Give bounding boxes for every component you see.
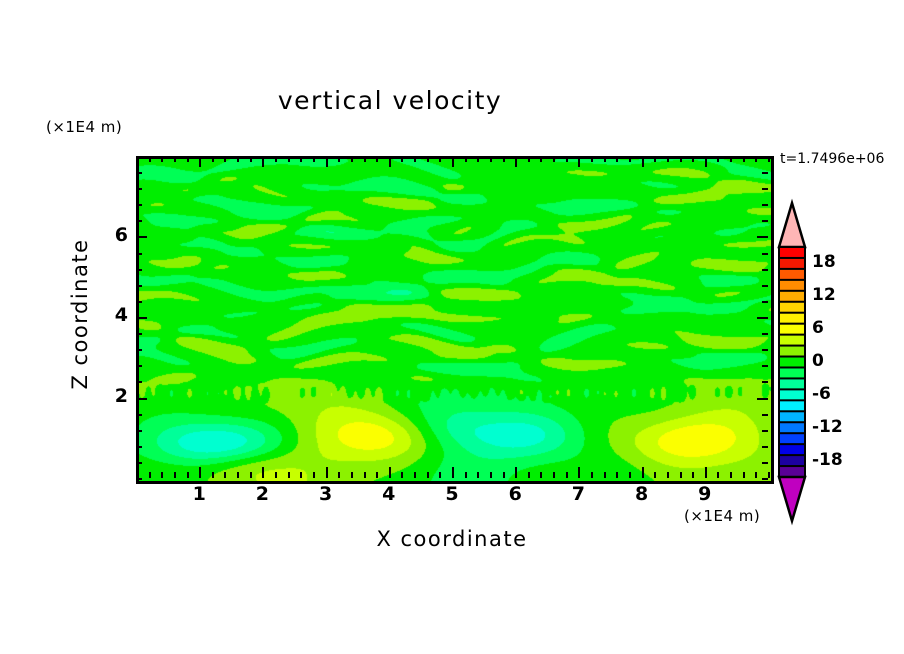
x-axis-minor-tick-top: [553, 156, 555, 162]
x-axis-tick-label: 5: [437, 483, 467, 505]
x-axis-minor-tick-top: [667, 156, 669, 162]
x-axis-minor-tick-top: [743, 156, 745, 162]
x-axis-minor-tick-top: [604, 156, 606, 162]
x-axis-minor-tick-top: [439, 156, 441, 162]
x-axis-minor-tick-top: [528, 156, 530, 162]
colorbar-band: [779, 455, 805, 466]
y-axis-minor-tick-right: [762, 446, 768, 448]
colorbar-band: [779, 378, 805, 389]
y-axis-minor-tick: [136, 414, 142, 416]
x-axis-minor-tick: [490, 472, 492, 478]
x-axis-minor-tick-top: [490, 156, 492, 162]
x-axis-minor-tick-top: [288, 156, 290, 162]
contour-plot-area: [136, 156, 774, 484]
x-axis-major-tick-top: [705, 156, 707, 167]
y-axis-major-tick: [136, 317, 147, 319]
x-axis-major-tick: [262, 467, 264, 478]
y-axis-tick-label: 6: [94, 224, 128, 246]
x-axis-minor-tick: [300, 472, 302, 478]
x-axis-minor-tick-top: [591, 156, 593, 162]
y-axis-major-tick-right: [757, 317, 768, 319]
x-axis-minor-tick-top: [364, 156, 366, 162]
y-axis-minor-tick-right: [762, 430, 768, 432]
x-axis-minor-tick: [338, 472, 340, 478]
y-axis-minor-tick-right: [762, 172, 768, 174]
x-axis-minor-tick: [717, 472, 719, 478]
x-axis-major-tick-top: [389, 156, 391, 167]
colorbar-band: [779, 422, 805, 433]
x-axis-minor-tick: [313, 472, 315, 478]
x-axis-minor-tick: [680, 472, 682, 478]
x-axis-minor-tick: [427, 472, 429, 478]
x-axis-major-tick-top: [262, 156, 264, 167]
colorbar-tick-label: 0: [812, 351, 824, 371]
colorbar-band: [779, 346, 805, 357]
x-axis-minor-tick: [604, 472, 606, 478]
y-axis-minor-tick-right: [762, 285, 768, 287]
x-axis-minor-tick-top: [680, 156, 682, 162]
x-axis-minor-tick: [439, 472, 441, 478]
colorbar-band: [779, 444, 805, 455]
x-axis-tick-label: 7: [563, 483, 593, 505]
x-axis-minor-tick-top: [692, 156, 694, 162]
x-axis-minor-tick: [692, 472, 694, 478]
y-axis-major-tick: [136, 236, 147, 238]
x-axis-major-tick: [578, 467, 580, 478]
y-axis-minor-tick-right: [762, 156, 768, 158]
y-axis-minor-tick-right: [762, 462, 768, 464]
y-axis-minor-tick-right: [762, 253, 768, 255]
x-axis-minor-tick-top: [768, 156, 770, 162]
x-axis-minor-tick: [161, 472, 163, 478]
x-axis-minor-tick: [566, 472, 568, 478]
x-axis-major-tick-top: [326, 156, 328, 167]
timestamp-label: t=1.7496e+06: [780, 151, 884, 167]
x-axis-minor-tick: [275, 472, 277, 478]
x-axis-minor-tick-top: [250, 156, 252, 162]
x-axis-minor-tick: [477, 472, 479, 478]
x-axis-minor-tick: [351, 472, 353, 478]
x-axis-minor-tick: [187, 472, 189, 478]
x-axis-minor-tick-top: [376, 156, 378, 162]
colorbar-over-tip: [779, 203, 805, 247]
colorbar-band: [779, 411, 805, 422]
x-axis-minor-tick-top: [503, 156, 505, 162]
x-axis-minor-tick: [540, 472, 542, 478]
x-axis-minor-tick-top: [351, 156, 353, 162]
colorbar-band: [779, 389, 805, 400]
x-axis-minor-tick: [465, 472, 467, 478]
y-axis-minor-tick: [136, 446, 142, 448]
x-axis-minor-tick: [616, 472, 618, 478]
x-axis-major-tick-top: [578, 156, 580, 167]
colorbar-tick-label: 18: [812, 252, 836, 272]
x-axis-minor-tick: [629, 472, 631, 478]
x-axis-minor-tick: [667, 472, 669, 478]
x-axis-minor-tick-top: [465, 156, 467, 162]
x-axis-minor-tick: [768, 472, 770, 478]
x-axis-minor-tick-top: [717, 156, 719, 162]
x-axis-minor-tick: [654, 472, 656, 478]
y-axis-minor-tick-right: [762, 204, 768, 206]
colorbar-band: [779, 247, 805, 258]
x-axis-minor-tick-top: [477, 156, 479, 162]
y-axis-minor-tick-right: [762, 365, 768, 367]
x-axis-title: X coordinate: [136, 527, 768, 551]
x-axis-major-tick: [515, 467, 517, 478]
y-axis-minor-tick: [136, 430, 142, 432]
x-axis-major-tick: [199, 467, 201, 478]
x-axis-minor-tick-top: [755, 156, 757, 162]
x-axis-minor-tick-top: [414, 156, 416, 162]
x-axis-tick-label: 1: [184, 483, 214, 505]
x-axis-minor-tick-top: [566, 156, 568, 162]
x-axis-minor-tick-top: [629, 156, 631, 162]
x-axis-minor-tick: [376, 472, 378, 478]
colorbar-band: [779, 357, 805, 368]
colorbar-band: [779, 258, 805, 269]
colorbar-band: [779, 291, 805, 302]
y-axis-minor-tick-right: [762, 301, 768, 303]
colorbar-band: [779, 280, 805, 291]
x-axis-major-tick-top: [515, 156, 517, 167]
x-axis-minor-tick-top: [174, 156, 176, 162]
y-axis-minor-tick: [136, 220, 142, 222]
x-axis-major-tick: [452, 467, 454, 478]
colorbar-tick-label: -6: [812, 384, 831, 404]
x-axis-minor-tick-top: [187, 156, 189, 162]
x-axis-minor-tick-top: [427, 156, 429, 162]
y-axis-minor-tick: [136, 204, 142, 206]
y-axis-minor-tick: [136, 365, 142, 367]
x-axis-major-tick: [389, 467, 391, 478]
colorbar-band: [779, 324, 805, 335]
x-axis-minor-tick: [288, 472, 290, 478]
y-axis-minor-tick-right: [762, 349, 768, 351]
y-axis-minor-tick-right: [762, 333, 768, 335]
y-axis-minor-tick-right: [762, 188, 768, 190]
y-axis-minor-tick: [136, 462, 142, 464]
x-axis-major-tick-top: [199, 156, 201, 167]
x-axis-minor-tick-top: [338, 156, 340, 162]
colorbar-tick-label: -18: [812, 450, 843, 470]
y-axis-tick-label: 4: [94, 304, 128, 326]
x-axis-tick-label: 3: [311, 483, 341, 505]
x-axis-minor-tick-top: [616, 156, 618, 162]
y-axis-minor-tick: [136, 172, 142, 174]
colorbar-tick-label: 6: [812, 318, 824, 338]
y-axis-major-tick-right: [757, 398, 768, 400]
x-axis-major-tick-top: [642, 156, 644, 167]
x-axis-minor-tick-top: [401, 156, 403, 162]
colorbar-band: [779, 269, 805, 280]
x-axis-minor-tick: [730, 472, 732, 478]
x-axis-minor-tick: [364, 472, 366, 478]
x-axis-minor-tick: [503, 472, 505, 478]
x-axis-tick-label: 8: [627, 483, 657, 505]
x-axis-major-tick: [705, 467, 707, 478]
colorbar-band: [779, 466, 805, 477]
x-axis-tick-label: 9: [690, 483, 720, 505]
y-axis-minor-tick-right: [762, 220, 768, 222]
x-axis-minor-tick-top: [161, 156, 163, 162]
y-axis-minor-tick: [136, 349, 142, 351]
x-axis-minor-tick-top: [654, 156, 656, 162]
page-title: vertical velocity: [0, 86, 780, 115]
x-axis-major-tick-top: [452, 156, 454, 167]
x-axis-minor-tick: [212, 472, 214, 478]
y-axis-minor-tick: [136, 253, 142, 255]
colorbar-under-tip: [779, 477, 805, 521]
x-axis-minor-tick-top: [730, 156, 732, 162]
y-axis-minor-tick-right: [762, 381, 768, 383]
y-axis-minor-tick: [136, 381, 142, 383]
y-axis-minor-tick: [136, 156, 142, 158]
x-axis-minor-tick-top: [149, 156, 151, 162]
x-axis-tick-label: 6: [500, 483, 530, 505]
colorbar-tick-label: 12: [812, 285, 836, 305]
x-axis-minor-tick: [553, 472, 555, 478]
x-axis-minor-tick: [250, 472, 252, 478]
x-axis-minor-tick-top: [313, 156, 315, 162]
y-axis-major-tick-right: [757, 236, 768, 238]
colorbar-band: [779, 335, 805, 346]
x-axis-major-tick: [642, 467, 644, 478]
colorbar-band: [779, 367, 805, 378]
colorbar-band: [779, 313, 805, 324]
colorbar-band: [779, 302, 805, 313]
colorbar-tick-label: -12: [812, 417, 843, 437]
x-axis-minor-tick: [401, 472, 403, 478]
y-axis-major-tick: [136, 398, 147, 400]
y-axis-minor-tick: [136, 478, 142, 480]
y-axis-minor-tick: [136, 188, 142, 190]
colorbar-band: [779, 433, 805, 444]
x-axis-minor-tick: [591, 472, 593, 478]
y-axis-minor-tick: [136, 269, 142, 271]
x-axis-minor-tick-top: [224, 156, 226, 162]
colorbar-band: [779, 400, 805, 411]
x-axis-major-tick: [326, 467, 328, 478]
x-axis-minor-tick-top: [300, 156, 302, 162]
x-axis-minor-tick-top: [275, 156, 277, 162]
y-axis-minor-tick: [136, 333, 142, 335]
y-axis-title: Z coordinate: [68, 214, 92, 414]
y-axis-minor-tick-right: [762, 269, 768, 271]
x-axis-minor-tick: [149, 472, 151, 478]
x-axis-tick-label: 2: [247, 483, 277, 505]
y-axis-minor-tick: [136, 285, 142, 287]
x-axis-minor-tick: [174, 472, 176, 478]
y-axis-minor-tick-right: [762, 414, 768, 416]
x-axis-minor-tick: [528, 472, 530, 478]
colorbar: [779, 203, 805, 521]
x-axis-minor-tick: [743, 472, 745, 478]
y-axis-minor-tick: [136, 301, 142, 303]
x-axis-minor-tick: [755, 472, 757, 478]
contour-field-canvas: [139, 159, 771, 481]
x-axis-minor-tick-top: [237, 156, 239, 162]
x-axis-minor-tick-top: [212, 156, 214, 162]
y-axis-units-label: (×1E4 m): [46, 118, 122, 136]
x-axis-units-label: (×1E4 m): [684, 507, 760, 525]
x-axis-tick-label: 4: [374, 483, 404, 505]
x-axis-minor-tick: [224, 472, 226, 478]
y-axis-tick-label: 2: [94, 385, 128, 407]
x-axis-minor-tick: [237, 472, 239, 478]
x-axis-minor-tick-top: [540, 156, 542, 162]
x-axis-minor-tick: [414, 472, 416, 478]
y-axis-minor-tick-right: [762, 478, 768, 480]
